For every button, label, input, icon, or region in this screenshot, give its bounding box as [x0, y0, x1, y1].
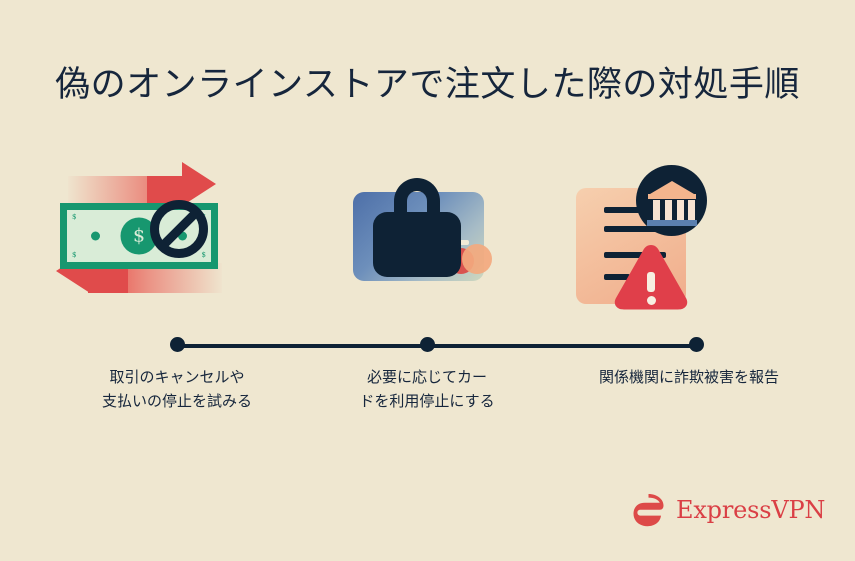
banknote-corner-mark: $ [72, 213, 76, 221]
banknote-corner-mark: $ [72, 251, 76, 259]
timeline [177, 342, 697, 349]
prohibition-slash [157, 207, 202, 252]
step-3: 関係機関に詐欺被害を報告 [554, 160, 824, 325]
bank-base [647, 220, 697, 226]
exclamation-dot [647, 296, 656, 305]
money-transfer-blocked-icon: $ $ $ $ $ [42, 160, 312, 325]
banknote-dot-left [91, 232, 100, 241]
step-3-artwork [554, 160, 824, 325]
timeline-dot-3 [689, 337, 704, 352]
warning-triangle-icon [612, 242, 690, 312]
step-1-caption: 取引のキャンセルや 支払いの停止を試みる [42, 365, 312, 413]
report-to-authorities-icon [554, 160, 824, 325]
step-2-caption: 必要に応じてカー ドを利用停止にする [292, 365, 562, 413]
expressvpn-logo: ExpressVPN [632, 492, 825, 528]
card-network-circle-orange-icon [462, 244, 492, 274]
step-1: $ $ $ $ $ 取引のキャンセルや 支払いの停止を試みる [42, 160, 312, 325]
timeline-line [177, 344, 697, 348]
locked-credit-card-icon [292, 160, 562, 325]
page-title: 偽のオンラインストアで注文した際の対処手順 [0, 62, 855, 108]
expressvpn-e-mark-icon [632, 492, 666, 528]
timeline-dot-1 [170, 337, 185, 352]
prohibition-icon [150, 200, 208, 258]
step-2: 必要に応じてカー ドを利用停止にする [292, 160, 562, 325]
expressvpn-wordmark: ExpressVPN [676, 496, 825, 524]
bank-pediment [650, 181, 694, 194]
exclamation-bar [647, 272, 655, 292]
bank-column [677, 200, 684, 220]
step-3-caption: 関係機関に詐欺被害を報告 [554, 365, 824, 389]
bank-column [653, 200, 660, 220]
bank-architrave [648, 194, 696, 199]
bank-column [665, 200, 672, 220]
infographic-canvas: 偽のオンラインストアで注文した際の対処手順 $ $ $ $ [0, 0, 855, 561]
padlock-body-icon [373, 212, 461, 277]
step-2-artwork [292, 160, 562, 325]
banknote-corner-mark: $ [202, 251, 206, 259]
step-1-artwork: $ $ $ $ $ [42, 160, 312, 325]
bank-column [688, 200, 695, 220]
bank-badge-icon [636, 165, 707, 236]
timeline-dot-2 [420, 337, 435, 352]
arrow-right-head-icon [182, 162, 216, 206]
